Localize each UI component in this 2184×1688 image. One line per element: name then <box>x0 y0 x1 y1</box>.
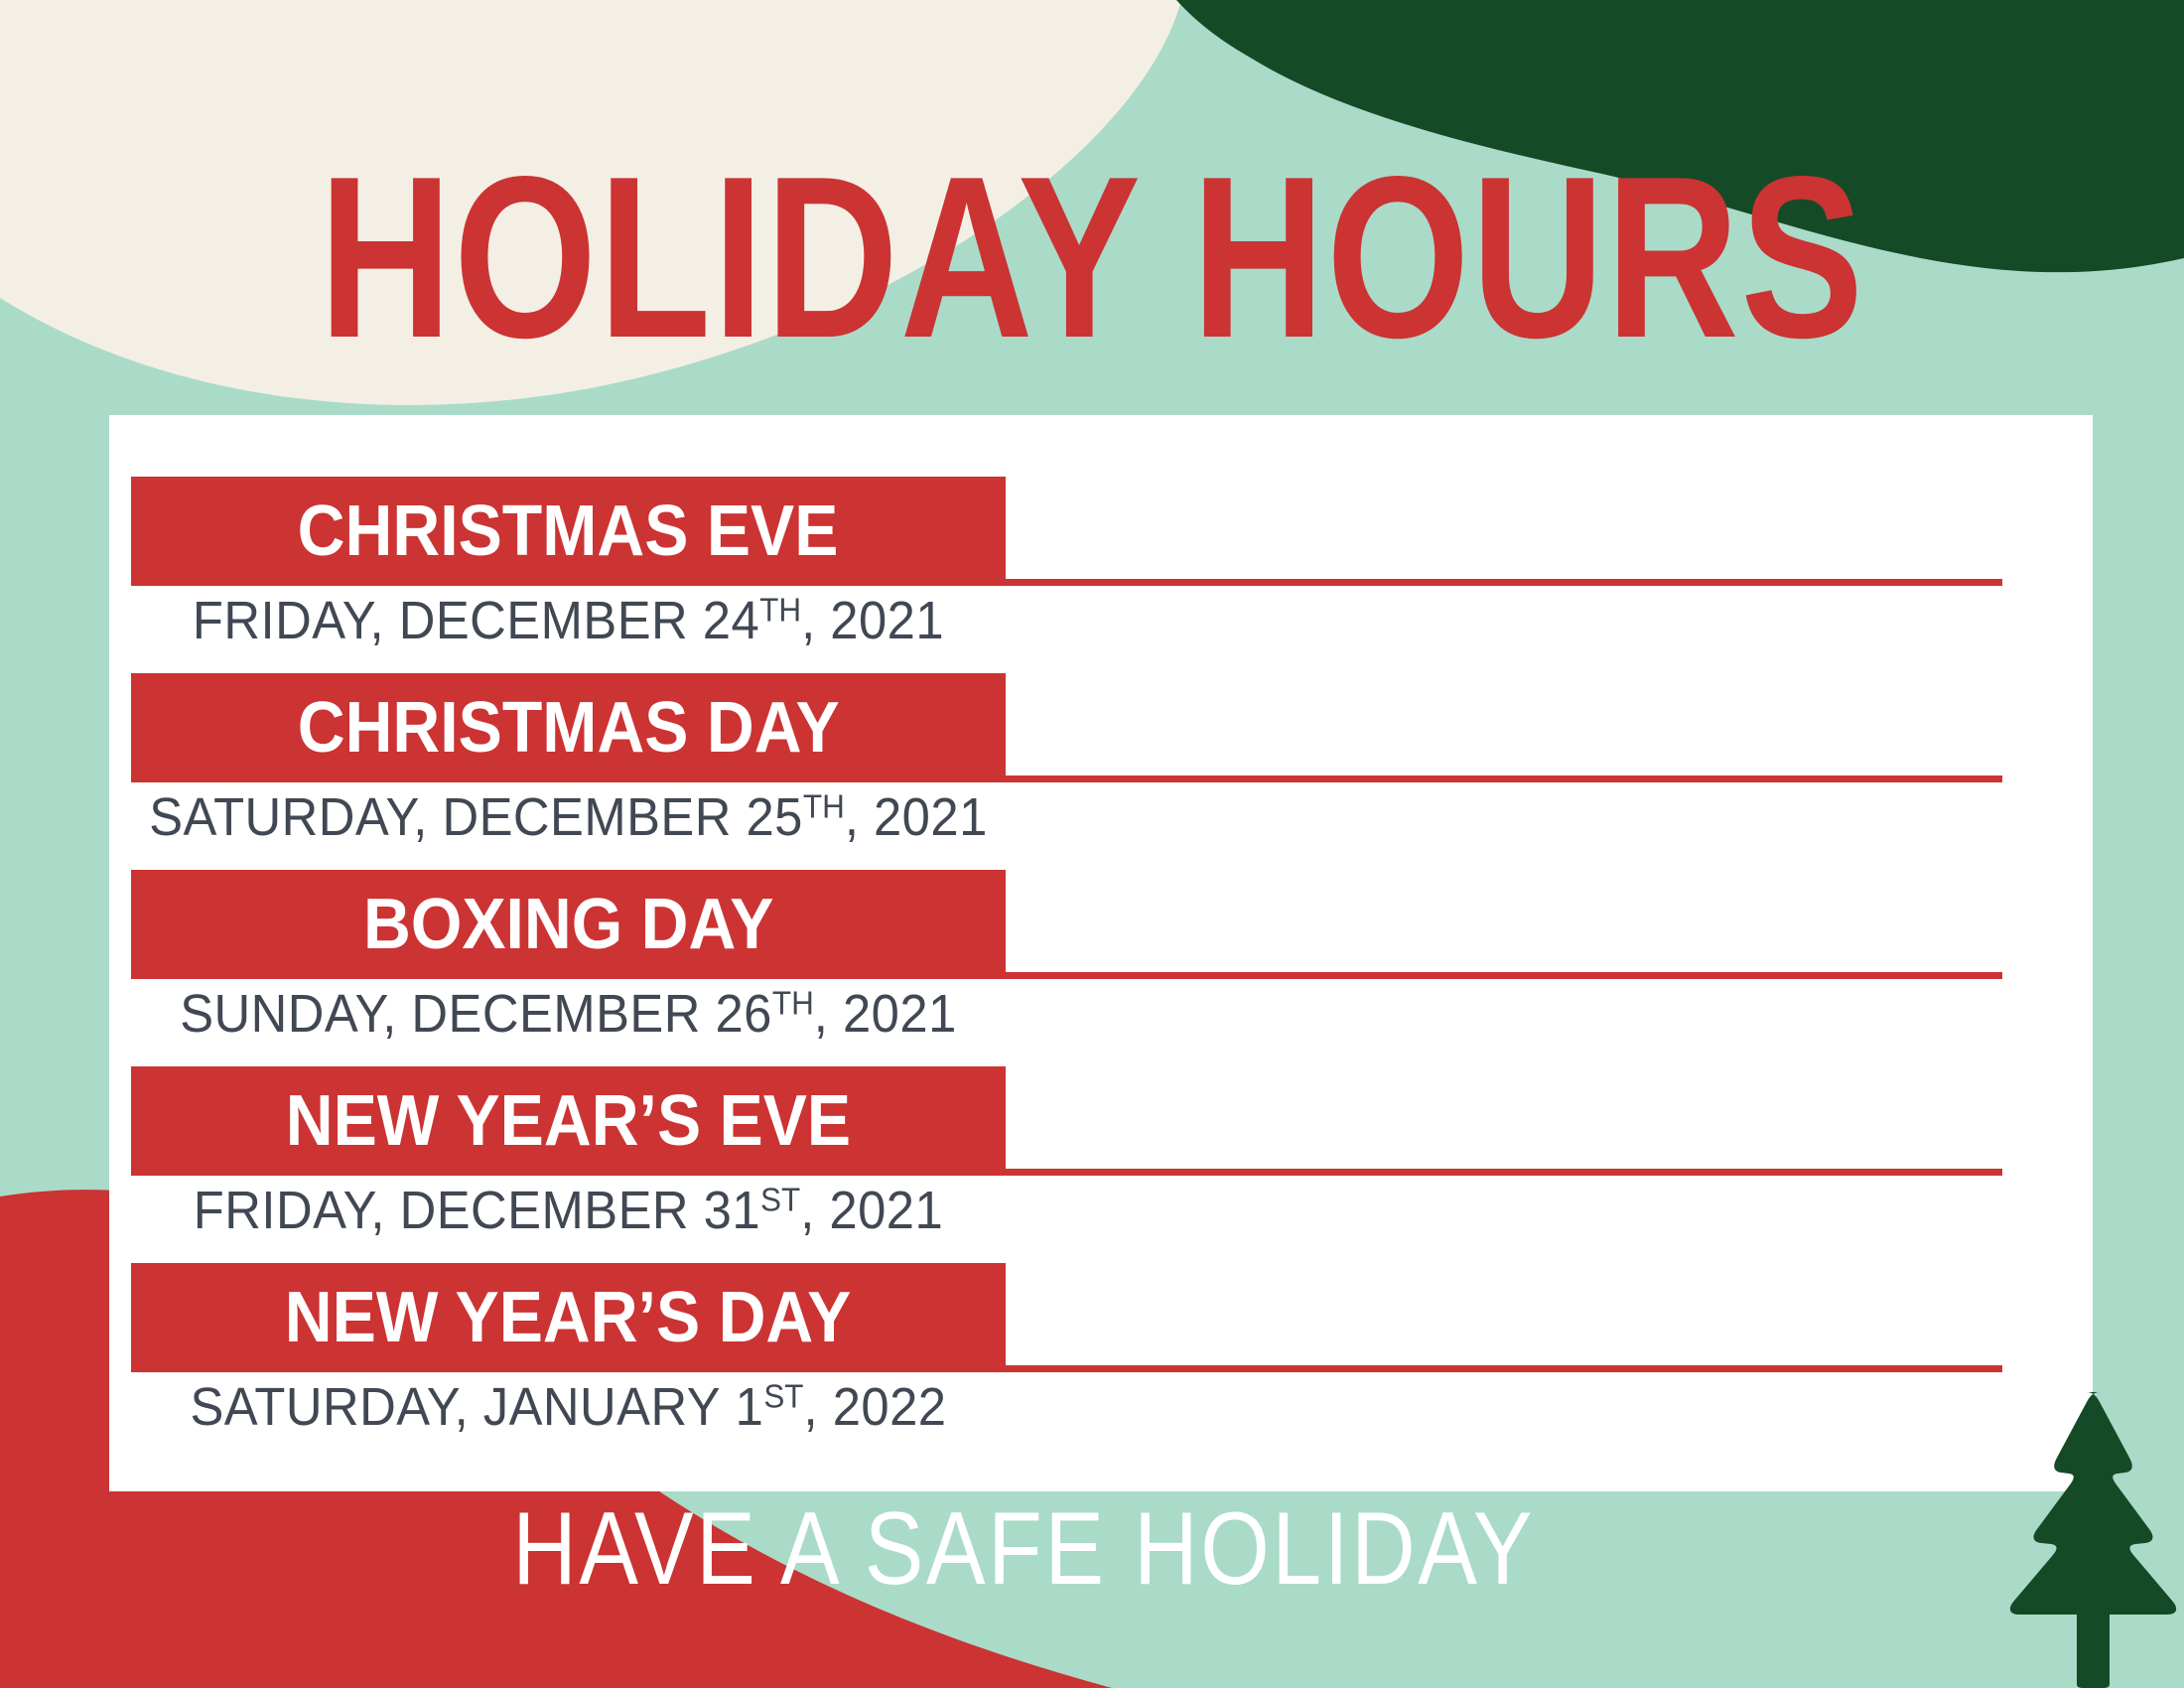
date-day: 1 <box>736 1377 764 1437</box>
holiday-date: SATURDAY, JANUARY 1ST, 2022 <box>137 1374 1001 1442</box>
date-year: 2021 <box>829 1181 943 1240</box>
holiday-banner: BOXING DAY <box>131 870 1006 979</box>
date-year: 2021 <box>843 984 957 1044</box>
date-weekday: SUNDAY, <box>180 984 397 1044</box>
date-month: DECEMBER <box>400 1181 689 1240</box>
date-year: 2021 <box>874 787 988 847</box>
date-ordinal: ST <box>760 1183 800 1219</box>
schedule-row: NEW YEAR’S EVE FRIDAY, DECEMBER 31ST, 20… <box>109 1066 2093 1263</box>
holiday-hours-poster: HOLIDAY HOURS CHRISTMAS EVE FRIDAY, DECE… <box>0 0 2184 1688</box>
date-month: DECEMBER <box>442 787 731 847</box>
schedule-card: CHRISTMAS EVE FRIDAY, DECEMBER 24TH, 202… <box>109 415 2093 1491</box>
holiday-date: FRIDAY, DECEMBER 31ST, 2021 <box>137 1178 1001 1245</box>
date-ordinal: TH <box>803 789 845 826</box>
date-weekday: SATURDAY, <box>190 1377 469 1437</box>
schedule-row: CHRISTMAS DAY SATURDAY, DECEMBER 25TH, 2… <box>109 673 2093 870</box>
holiday-name: NEW YEAR’S DAY <box>285 1282 852 1353</box>
footer-message: HAVE A SAFE HOLIDAY <box>153 1497 2031 1601</box>
holiday-banner: NEW YEAR’S EVE <box>131 1066 1006 1176</box>
date-month: JANUARY <box>483 1377 721 1437</box>
date-weekday: FRIDAY, <box>194 1181 385 1240</box>
date-month: DECEMBER <box>411 984 700 1044</box>
holiday-name: BOXING DAY <box>363 889 773 960</box>
date-ordinal: TH <box>759 593 801 630</box>
date-day: 26 <box>715 984 771 1044</box>
holiday-date: SATURDAY, DECEMBER 25TH, 2021 <box>137 784 1001 852</box>
holiday-banner: NEW YEAR’S DAY <box>131 1263 1006 1372</box>
holiday-banner: CHRISTMAS DAY <box>131 673 1006 782</box>
date-day: 24 <box>703 591 759 650</box>
schedule-row: CHRISTMAS EVE FRIDAY, DECEMBER 24TH, 202… <box>109 477 2093 673</box>
date-day: 25 <box>746 787 802 847</box>
date-ordinal: ST <box>763 1379 803 1416</box>
holiday-name: CHRISTMAS EVE <box>298 495 839 567</box>
date-year: 2022 <box>833 1377 947 1437</box>
date-month: DECEMBER <box>399 591 688 650</box>
page-title: HOLIDAY HOURS <box>218 149 1966 367</box>
holiday-date: SUNDAY, DECEMBER 26TH, 2021 <box>137 981 1001 1049</box>
schedule-row: BOXING DAY SUNDAY, DECEMBER 26TH, 2021 <box>109 870 2093 1066</box>
date-ordinal: TH <box>772 986 814 1023</box>
date-weekday: FRIDAY, <box>193 591 384 650</box>
date-year: 2021 <box>830 591 944 650</box>
date-weekday: SATURDAY, <box>149 787 428 847</box>
date-day: 31 <box>704 1181 760 1240</box>
holiday-name: NEW YEAR’S EVE <box>286 1085 851 1157</box>
holiday-date: FRIDAY, DECEMBER 24TH, 2021 <box>137 588 1001 655</box>
holiday-name: CHRISTMAS DAY <box>298 692 840 764</box>
holiday-banner: CHRISTMAS EVE <box>131 477 1006 586</box>
schedule-row: NEW YEAR’S DAY SATURDAY, JANUARY 1ST, 20… <box>109 1263 2093 1460</box>
christmas-tree-icon <box>1971 1388 2184 1688</box>
